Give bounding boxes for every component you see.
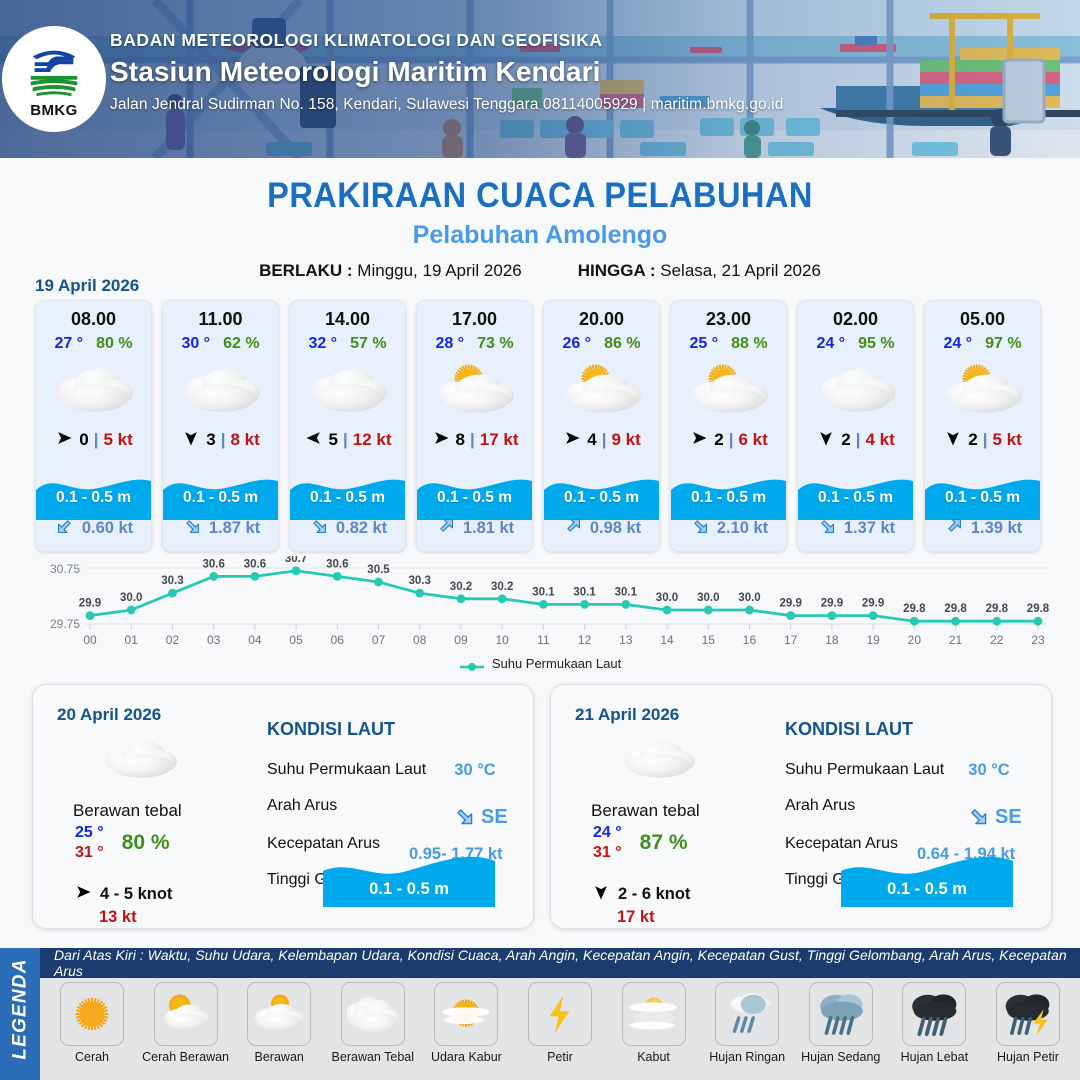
svg-text:30.5: 30.5 (367, 564, 390, 576)
legend-item[interactable]: Hujan Sedang (795, 982, 887, 1080)
card-current-speed: 0.98 kt (590, 519, 641, 538)
svg-text:22: 22 (990, 633, 1004, 647)
card-wind-speed: 2 (841, 430, 850, 450)
panel-temp-max: 31 ° (75, 843, 104, 863)
panel-condition: Berawan tebal (591, 801, 700, 821)
card-weather-icon (544, 359, 659, 421)
card-weather-icon (925, 359, 1040, 421)
card-current-speed: 0.60 kt (82, 519, 133, 538)
panel-temp-row: 24 ° 31 ° 87 % (593, 823, 688, 863)
card-gust-speed: 17 kt (480, 430, 519, 450)
wind-direction-arrow-icon (304, 428, 324, 452)
wind-direction-arrow-icon (73, 882, 93, 907)
card-weather-icon (290, 359, 405, 421)
valid-until: HINGGA : Selasa, 21 April 2026 (578, 261, 821, 281)
current-direction-arrow-icon (181, 515, 203, 542)
svg-text:30.6: 30.6 (326, 558, 348, 570)
card-temp-humidity-row: 26 ° 86 % (544, 335, 659, 353)
card-air-temperature: 25 ° (689, 335, 718, 353)
card-gust-speed: 5 kt (992, 430, 1021, 450)
card-current-speed: 0.82 kt (336, 519, 387, 538)
card-wind-row: 4 | 9 kt (544, 428, 659, 452)
wind-direction-arrow-icon (54, 428, 74, 452)
panel-sst-value: 30 °C (968, 761, 1009, 780)
card-wave-height: 0.1 - 0.5 m (544, 489, 659, 507)
heavy-rain-icon (902, 982, 966, 1046)
card-wind-speed: 0 (79, 430, 88, 450)
card-separator: | (983, 430, 988, 450)
valid-from: BERLAKU : Minggu, 19 April 2026 (259, 261, 522, 281)
panel-sea-title: KONDISI LAUT (785, 719, 913, 740)
forecast-card-row: 08.00 27 ° 80 % 0 | 5 kt (35, 300, 1041, 552)
panel-current-direction-value: SE (481, 806, 508, 829)
svg-text:02: 02 (166, 633, 180, 647)
legend-item[interactable]: Hujan Ringan (701, 982, 793, 1080)
card-air-temperature: 32 ° (308, 335, 337, 353)
svg-text:00: 00 (83, 633, 97, 647)
card-temp-humidity-row: 25 ° 88 % (671, 335, 786, 353)
header-text-block: BADAN METEOROLOGI KLIMATOLOGI DAN GEOFIS… (110, 30, 783, 114)
svg-text:09: 09 (454, 633, 468, 647)
svg-text:30.0: 30.0 (656, 592, 678, 604)
clouds-icon (341, 982, 405, 1046)
card-current-row: 1.81 kt (417, 515, 532, 542)
card-wind-speed: 8 (456, 430, 465, 450)
card-wind-speed: 2 (714, 430, 723, 450)
svg-text:29.8: 29.8 (1027, 603, 1050, 615)
legend-item-label: Udara Kabur (431, 1050, 502, 1064)
card-wind-speed: 4 (587, 430, 596, 450)
svg-text:10: 10 (495, 633, 509, 647)
card-temp-humidity-row: 30 ° 62 % (163, 335, 278, 353)
card-wind-row: 2 | 4 kt (798, 428, 913, 452)
card-humidity: 88 % (731, 335, 767, 353)
panel-weather-icon (613, 733, 703, 785)
svg-text:30.0: 30.0 (120, 592, 142, 604)
panel-wave-height: 0.1 - 0.5 m (323, 880, 495, 899)
card-time: 11.00 (163, 309, 278, 330)
station-address: Jalan Jendral Sudirman No. 158, Kendari,… (110, 96, 783, 114)
legend-footer: LEGENDA Dari Atas Kiri : Waktu, Suhu Uda… (0, 948, 1080, 1080)
card-air-temperature: 24 ° (943, 335, 972, 353)
forecast-card[interactable]: 05.00 24 ° 97 % 2 | 5 kt (924, 300, 1041, 552)
card-wind-row: 8 | 17 kt (417, 428, 532, 452)
panel-gust: 13 kt (99, 908, 137, 927)
panel-current-direction-label: Arah Arus (785, 797, 855, 815)
card-current-speed: 1.39 kt (971, 519, 1022, 538)
forecast-card[interactable]: 14.00 32 ° 57 % 5 | 12 kt (289, 300, 406, 552)
forecast-card[interactable]: 08.00 27 ° 80 % 0 | 5 kt (35, 300, 152, 552)
card-time: 05.00 (925, 309, 1040, 330)
card-weather-icon (36, 359, 151, 421)
agency-name: BADAN METEOROLOGI KLIMATOLOGI DAN GEOFIS… (110, 30, 783, 51)
card-wind-speed: 5 (329, 430, 338, 450)
current-direction-arrow-icon (451, 803, 477, 834)
card-weather-icon (798, 359, 913, 421)
svg-text:29.9: 29.9 (79, 598, 101, 610)
svg-text:08: 08 (413, 633, 427, 647)
panel-sst-label: Suhu Permukaan Laut (785, 761, 944, 779)
bmkg-logo: BMKG (2, 26, 106, 132)
logo-text: BMKG (30, 102, 77, 119)
day-summary-panels: 20 April 2026 Berawan tebal 25 ° 31 ° 80… (32, 684, 1052, 929)
legend-item[interactable]: Berawan (233, 982, 325, 1080)
forecast-card[interactable]: 23.00 25 ° 88 % 2 | 6 kt (670, 300, 787, 552)
legend-item[interactable]: Hujan Petir (982, 982, 1074, 1080)
svg-text:30.2: 30.2 (450, 581, 472, 593)
legend-item[interactable]: Berawan Tebal (327, 982, 419, 1080)
panel-current-speed-label: Kecepatan Arus (785, 835, 898, 853)
port-name: Pelabuhan Amolengo (0, 221, 1080, 250)
card-wind-row: 5 | 12 kt (290, 428, 405, 452)
card-separator: | (602, 430, 607, 450)
legend-item-label: Cerah (75, 1050, 109, 1064)
wind-direction-arrow-icon (431, 428, 451, 452)
panel-temp-max: 31 ° (593, 843, 622, 863)
svg-text:30.6: 30.6 (244, 558, 266, 570)
svg-text:06: 06 (331, 633, 345, 647)
validity-row: BERLAKU : Minggu, 19 April 2026 HINGGA :… (0, 261, 1080, 281)
legend-item[interactable]: Cerah Berawan (140, 982, 232, 1080)
legend-sidebar: LEGENDA (0, 948, 40, 1080)
card-temp-humidity-row: 32 ° 57 % (290, 335, 405, 353)
lightning-icon (528, 982, 592, 1046)
panel-wind-row: 4 - 5 knot (73, 882, 172, 907)
card-temp-humidity-row: 28 ° 73 % (417, 335, 532, 353)
card-current-row: 0.98 kt (544, 515, 659, 542)
svg-text:30.6: 30.6 (203, 558, 225, 570)
panel-temp-col: 25 ° 31 ° (75, 823, 104, 863)
card-humidity: 73 % (477, 335, 513, 353)
page-header: BMKG BADAN METEOROLOGI KLIMATOLOGI DAN G… (0, 0, 1080, 158)
fog-icon (622, 982, 686, 1046)
card-time: 17.00 (417, 309, 532, 330)
card-wind-row: 2 | 5 kt (925, 428, 1040, 452)
card-weather-icon (417, 359, 532, 421)
card-current-speed: 1.81 kt (463, 519, 514, 538)
card-temp-humidity-row: 24 ° 97 % (925, 335, 1040, 353)
legend-item-label: Hujan Lebat (901, 1050, 968, 1064)
panel-temp-row: 25 ° 31 ° 80 % (75, 823, 170, 863)
svg-text:12: 12 (578, 633, 592, 647)
card-gust-speed: 5 kt (103, 430, 132, 450)
bmkg-logo-mark (23, 39, 85, 101)
card-humidity: 57 % (350, 335, 386, 353)
svg-text:30.2: 30.2 (491, 581, 513, 593)
card-current-row: 1.87 kt (163, 515, 278, 542)
wind-direction-arrow-icon (181, 428, 201, 452)
card-weather-icon (671, 359, 786, 421)
svg-text:30.1: 30.1 (532, 586, 555, 598)
current-direction-arrow-icon (689, 515, 711, 542)
card-time: 20.00 (544, 309, 659, 330)
card-wind-row: 0 | 5 kt (36, 428, 151, 452)
chart-legend: Suhu Permukaan Laut (30, 656, 1050, 671)
legend-item-label: Berawan Tebal (332, 1050, 414, 1064)
svg-text:29.8: 29.8 (903, 603, 926, 615)
card-separator: | (470, 430, 475, 450)
valid-until-value: Selasa, 21 April 2026 (660, 261, 821, 280)
card-gust-speed: 12 kt (353, 430, 392, 450)
legend-item-label: Kabut (637, 1050, 670, 1064)
card-wave-height: 0.1 - 0.5 m (925, 489, 1040, 507)
card-wind-row: 3 | 8 kt (163, 428, 278, 452)
day-summary-panel[interactable]: 20 April 2026 Berawan tebal 25 ° 31 ° 80… (32, 684, 534, 929)
forecast-date-label: 19 April 2026 (35, 276, 139, 296)
legend-item-label: Berawan (255, 1050, 304, 1064)
svg-text:21: 21 (949, 633, 963, 647)
card-gust-speed: 9 kt (611, 430, 640, 450)
card-time: 02.00 (798, 309, 913, 330)
legend-item-label: Hujan Sedang (801, 1050, 880, 1064)
current-direction-arrow-icon (54, 515, 76, 542)
legend-sidebar-title: LEGENDA (10, 957, 32, 1062)
current-direction-arrow-icon (965, 803, 991, 834)
current-direction-arrow-icon (435, 515, 457, 542)
card-air-temperature: 26 ° (562, 335, 591, 353)
svg-text:29.75: 29.75 (50, 617, 80, 631)
title-block: PRAKIRAAN CUACA PELABUHAN Pelabuhan Amol… (0, 176, 1080, 281)
card-wind-speed: 2 (968, 430, 977, 450)
current-direction-arrow-icon (816, 515, 838, 542)
card-air-temperature: 27 ° (54, 335, 83, 353)
svg-text:30.1: 30.1 (615, 586, 638, 598)
panel-humidity: 80 % (122, 831, 170, 855)
panel-wind-range: 2 - 6 knot (618, 885, 690, 904)
legend-item[interactable]: Udara Kabur (420, 982, 512, 1080)
svg-text:05: 05 (289, 633, 303, 647)
panel-current-direction-label: Arah Arus (267, 797, 337, 815)
sea-temperature-chart: 30.7529.75000102030405060708091011121314… (30, 556, 1050, 678)
card-air-temperature: 24 ° (816, 335, 845, 353)
card-time: 14.00 (290, 309, 405, 330)
current-direction-arrow-icon (308, 515, 330, 542)
haze-icon (434, 982, 498, 1046)
svg-text:30.7: 30.7 (285, 556, 307, 565)
legend-item[interactable]: Kabut (608, 982, 700, 1080)
card-separator: | (856, 430, 861, 450)
card-humidity: 80 % (96, 335, 132, 353)
svg-text:11: 11 (537, 633, 550, 647)
sun-icon (60, 982, 124, 1046)
svg-text:23: 23 (1031, 633, 1045, 647)
svg-text:14: 14 (660, 633, 674, 647)
legend-item-label: Cerah Berawan (142, 1050, 229, 1064)
legend-item-label: Hujan Ringan (709, 1050, 785, 1064)
svg-text:30.0: 30.0 (738, 592, 760, 604)
panel-wind-range: 4 - 5 knot (100, 885, 172, 904)
legend-item[interactable]: Hujan Lebat (888, 982, 980, 1080)
card-separator: | (94, 430, 99, 450)
card-gust-speed: 8 kt (230, 430, 259, 450)
card-current-speed: 1.37 kt (844, 519, 895, 538)
legend-banner-text: Dari Atas Kiri : Waktu, Suhu Udara, Kele… (54, 947, 1080, 979)
moderate-rain-icon (809, 982, 873, 1046)
valid-from-value: Minggu, 19 April 2026 (357, 261, 521, 280)
svg-text:30.0: 30.0 (697, 592, 719, 604)
svg-text:29.9: 29.9 (862, 598, 884, 610)
light-rain-icon (715, 982, 779, 1046)
wind-direction-arrow-icon (816, 428, 836, 452)
card-current-row: 1.39 kt (925, 515, 1040, 542)
cloud-sun-small-icon (247, 982, 311, 1046)
panel-wind-row: 2 - 6 knot (591, 882, 690, 907)
chart-legend-swatch (459, 659, 485, 669)
panel-date: 21 April 2026 (575, 705, 679, 725)
card-current-speed: 1.87 kt (209, 519, 260, 538)
panel-wave-height: 0.1 - 0.5 m (841, 880, 1013, 899)
panel-humidity: 87 % (640, 831, 688, 855)
svg-text:17: 17 (784, 633, 798, 647)
card-wave-height: 0.1 - 0.5 m (163, 489, 278, 507)
chart-plot: 30.7529.75000102030405060708091011121314… (30, 556, 1050, 656)
svg-text:30.3: 30.3 (161, 575, 183, 587)
wind-direction-arrow-icon (943, 428, 963, 452)
svg-text:29.9: 29.9 (821, 598, 843, 610)
card-wave-height: 0.1 - 0.5 m (290, 489, 405, 507)
current-direction-arrow-icon (943, 515, 965, 542)
card-air-temperature: 28 ° (435, 335, 464, 353)
svg-text:15: 15 (702, 633, 716, 647)
valid-until-label: HINGGA : (578, 261, 656, 280)
current-direction-arrow-icon (562, 515, 584, 542)
panel-temp-min: 24 ° (593, 823, 622, 843)
card-temp-humidity-row: 24 ° 95 % (798, 335, 913, 353)
forecast-card[interactable]: 11.00 30 ° 62 % 3 | 8 kt (162, 300, 279, 552)
sun-cloud-icon (154, 982, 218, 1046)
panel-sst-label: Suhu Permukaan Laut (267, 761, 426, 779)
card-separator: | (221, 430, 226, 450)
legend-item[interactable]: Petir (514, 982, 606, 1080)
svg-text:18: 18 (825, 633, 839, 647)
svg-text:07: 07 (372, 633, 386, 647)
thunderstorm-rain-icon (996, 982, 1060, 1046)
card-humidity: 97 % (985, 335, 1021, 353)
wind-direction-arrow-icon (591, 882, 611, 907)
card-time: 08.00 (36, 309, 151, 330)
forecast-card[interactable]: 02.00 24 ° 95 % 2 | 4 kt (797, 300, 914, 552)
chart-legend-label: Suhu Permukaan Laut (492, 656, 621, 671)
card-current-row: 2.10 kt (671, 515, 786, 542)
station-name: Stasiun Meteorologi Maritim Kendari (110, 56, 783, 88)
card-current-row: 0.60 kt (36, 515, 151, 542)
card-current-row: 0.82 kt (290, 515, 405, 542)
panel-temp-min: 25 ° (75, 823, 104, 843)
svg-text:30.75: 30.75 (50, 562, 80, 576)
svg-text:29.9: 29.9 (780, 598, 802, 610)
card-wave-height: 0.1 - 0.5 m (36, 489, 151, 507)
card-humidity: 86 % (604, 335, 640, 353)
card-wave-height: 0.1 - 0.5 m (671, 489, 786, 507)
svg-text:29.8: 29.8 (944, 603, 967, 615)
legend-item[interactable]: Cerah (46, 982, 138, 1080)
svg-text:04: 04 (248, 633, 262, 647)
card-air-temperature: 30 ° (181, 335, 210, 353)
svg-text:30.3: 30.3 (409, 575, 431, 587)
card-separator: | (729, 430, 734, 450)
panel-sea-title: KONDISI LAUT (267, 719, 395, 740)
card-weather-icon (163, 359, 278, 421)
svg-text:19: 19 (866, 633, 880, 647)
day-summary-panel[interactable]: 21 April 2026 Berawan tebal 24 ° 31 ° 87… (550, 684, 1052, 929)
legend-banner: Dari Atas Kiri : Waktu, Suhu Udara, Kele… (40, 948, 1080, 978)
panel-condition: Berawan tebal (73, 801, 182, 821)
card-separator: | (343, 430, 348, 450)
card-wind-row: 2 | 6 kt (671, 428, 786, 452)
panel-current-speed-label: Kecepatan Arus (267, 835, 380, 853)
card-humidity: 95 % (858, 335, 894, 353)
svg-text:01: 01 (125, 633, 139, 647)
svg-text:13: 13 (619, 633, 633, 647)
wind-direction-arrow-icon (689, 428, 709, 452)
svg-text:16: 16 (743, 633, 757, 647)
panel-weather-icon (95, 733, 185, 785)
page-title: PRAKIRAAN CUACA PELABUHAN (38, 176, 1042, 216)
card-time: 23.00 (671, 309, 786, 330)
wind-direction-arrow-icon (562, 428, 582, 452)
card-current-row: 1.37 kt (798, 515, 913, 542)
legend-item-row: Cerah Cerah Berawan (40, 978, 1080, 1080)
panel-current-direction-value: SE (995, 806, 1022, 829)
card-gust-speed: 4 kt (865, 430, 894, 450)
card-humidity: 62 % (223, 335, 259, 353)
panel-sst-value: 30 °C (454, 761, 495, 780)
svg-text:20: 20 (908, 633, 922, 647)
card-gust-speed: 6 kt (738, 430, 767, 450)
card-wind-speed: 3 (206, 430, 215, 450)
card-current-speed: 2.10 kt (717, 519, 768, 538)
panel-date: 20 April 2026 (57, 705, 161, 725)
svg-text:30.1: 30.1 (573, 586, 596, 598)
valid-from-label: BERLAKU : (259, 261, 353, 280)
svg-text:03: 03 (207, 633, 221, 647)
legend-item-label: Petir (547, 1050, 573, 1064)
legend-item-label: Hujan Petir (997, 1050, 1059, 1064)
panel-gust: 17 kt (617, 908, 655, 927)
card-temp-humidity-row: 27 ° 80 % (36, 335, 151, 353)
panel-temp-col: 24 ° 31 ° (593, 823, 622, 863)
forecast-card[interactable]: 17.00 28 ° 73 % 8 | 17 kt (416, 300, 533, 552)
svg-text:29.8: 29.8 (986, 603, 1009, 615)
forecast-card[interactable]: 20.00 26 ° 86 % 4 | 9 kt (543, 300, 660, 552)
card-wave-height: 0.1 - 0.5 m (798, 489, 913, 507)
card-wave-height: 0.1 - 0.5 m (417, 489, 532, 507)
